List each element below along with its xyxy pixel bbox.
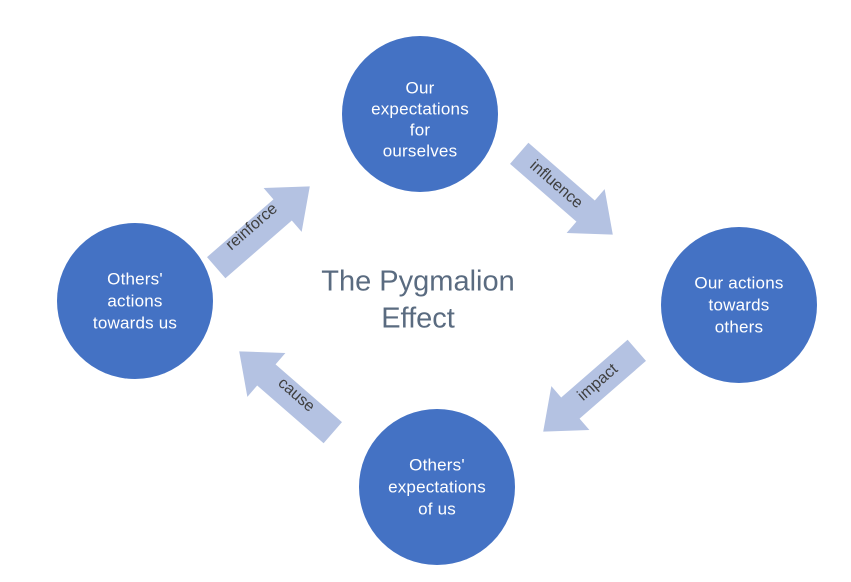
- node-top-label-line3: for: [410, 120, 431, 139]
- node-right-label-line2: towards: [709, 295, 770, 314]
- node-left-label-line3: towards us: [93, 313, 177, 332]
- node-top-label-line1: Our: [406, 78, 435, 97]
- diagram-canvas: reinforce influence impact cause The Pyg…: [0, 0, 851, 582]
- node-top-label-line2: expectations: [371, 99, 469, 118]
- node-bottom-label-line3: of us: [418, 499, 456, 518]
- center-title-group: The Pygmalion Effect: [321, 266, 514, 335]
- pygmalion-effect-diagram: reinforce influence impact cause The Pyg…: [0, 0, 851, 582]
- node-our-expectations-for-ourselves[interactable]: Our expectations for ourselves: [342, 36, 498, 192]
- node-left-label-line1: Others': [107, 269, 163, 288]
- center-title-line2: Effect: [381, 303, 455, 335]
- node-bottom-label-line2: expectations: [388, 477, 486, 496]
- node-bottom-label-line1: Others': [409, 455, 465, 474]
- node-others-actions-towards-us[interactable]: Others' actions towards us: [57, 223, 213, 379]
- node-left-label-line2: actions: [107, 291, 162, 310]
- node-right-label-line1: Our actions: [694, 273, 783, 292]
- node-others-expectations-of-us[interactable]: Others' expectations of us: [359, 409, 515, 565]
- node-top-label-line4: ourselves: [383, 141, 458, 160]
- node-right-label-line3: others: [715, 317, 763, 336]
- center-title-line1: The Pygmalion: [321, 266, 514, 298]
- node-our-actions-towards-others[interactable]: Our actions towards others: [661, 227, 817, 383]
